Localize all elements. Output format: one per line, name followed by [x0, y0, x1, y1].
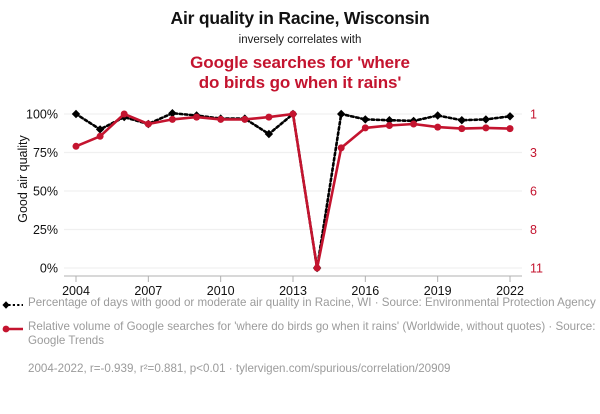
y-axis-right-tick-label: 1 [530, 108, 537, 122]
chart-legend: Percentage of days with good or moderate… [0, 296, 600, 376]
y-axis-right-label-group: *Note inverted axis Rel. search volume [497, 108, 523, 288]
legend-label-air-quality-line1: Percentage of days with good or moderate… [28, 296, 422, 309]
series-data-point [386, 122, 393, 129]
y-axis-right-tick-label: 11 [530, 262, 543, 276]
series-data-point [458, 116, 466, 124]
y-axis-left-tick-label: 75% [33, 146, 58, 160]
chart-plot-area: 2004200720102013201620192022 0%25%50%75%… [0, 100, 600, 295]
chart-stats-footer: 2004-2022, r=-0.939, r²=0.881, p<0.01 · … [0, 362, 600, 377]
y-axis-right-tick-label: 8 [530, 223, 537, 237]
series-data-point [72, 110, 80, 118]
legend-label-search-volume-line1: Relative volume of Google searches for '… [28, 320, 369, 333]
series-data-point [217, 116, 224, 123]
x-axis-tick-label: 2013 [279, 284, 307, 295]
x-axis-tick-label: 2010 [207, 284, 235, 295]
series-data-point [314, 265, 321, 272]
series-data-point [482, 115, 490, 123]
secondary-title-line2: do birds go when it rains' [0, 73, 600, 93]
legend-item-search-volume: Relative volume of Google searches for '… [0, 320, 600, 349]
y-axis-left-tick-label: 100% [26, 108, 58, 122]
gridlines [64, 114, 522, 268]
series-data-point [458, 125, 465, 132]
chart-page: Air quality in Racine, Wisconsin inverse… [0, 0, 600, 414]
series-data-point [337, 110, 345, 118]
y-axis-right-ticks: 136811 [530, 108, 543, 276]
series-data-point [169, 116, 176, 123]
series-data-point [290, 111, 297, 118]
series-data-point [362, 124, 369, 131]
x-axis-tick-label: 2019 [424, 284, 452, 295]
series-data-point [338, 144, 345, 151]
x-axis-tick-label: 2016 [351, 284, 379, 295]
y-axis-left-ticks: 0%25%50%75%100% [26, 108, 58, 276]
series-data-point [97, 133, 104, 140]
series-data-point [121, 111, 128, 118]
title-block: Air quality in Racine, Wisconsin inverse… [0, 0, 600, 93]
series-data-point [482, 124, 489, 131]
series-data-point [193, 114, 200, 121]
y-axis-right-tick-label: 3 [530, 146, 537, 160]
series-data-point [434, 111, 442, 119]
x-axis-tick-label: 2004 [62, 284, 90, 295]
legend-marker-solid-circle-icon [2, 325, 24, 333]
y-axis-left-tick-label: 25% [33, 223, 58, 237]
secondary-title: Google searches for 'where do birds go w… [0, 53, 600, 93]
series-data-point [410, 121, 417, 128]
secondary-title-line1: Google searches for 'where [0, 53, 600, 73]
correlation-connector: inversely correlates with [0, 33, 600, 47]
legend-label-air-quality-line2: Environmental Protection Agency [425, 296, 596, 309]
series-data-point [361, 115, 369, 123]
page-title: Air quality in Racine, Wisconsin [0, 8, 600, 28]
legend-marker-dotted-diamond-icon [2, 301, 24, 309]
legend-item-air-quality: Percentage of days with good or moderate… [0, 296, 600, 311]
x-axis: 2004200720102013201620192022 [62, 276, 524, 295]
y-axis-right-tick-label: 6 [530, 185, 537, 199]
series-data-point [73, 143, 80, 150]
y-axis-left-tick-label: 0% [40, 262, 58, 276]
series-data-point [434, 124, 441, 131]
x-axis-tick-label: 2007 [134, 284, 162, 295]
series-data-point [241, 116, 248, 123]
series-data-point [145, 121, 152, 128]
series-data-point [265, 114, 272, 121]
y-axis-left-tick-label: 50% [33, 185, 58, 199]
y-axis-left-label: Good air quality [16, 104, 30, 254]
